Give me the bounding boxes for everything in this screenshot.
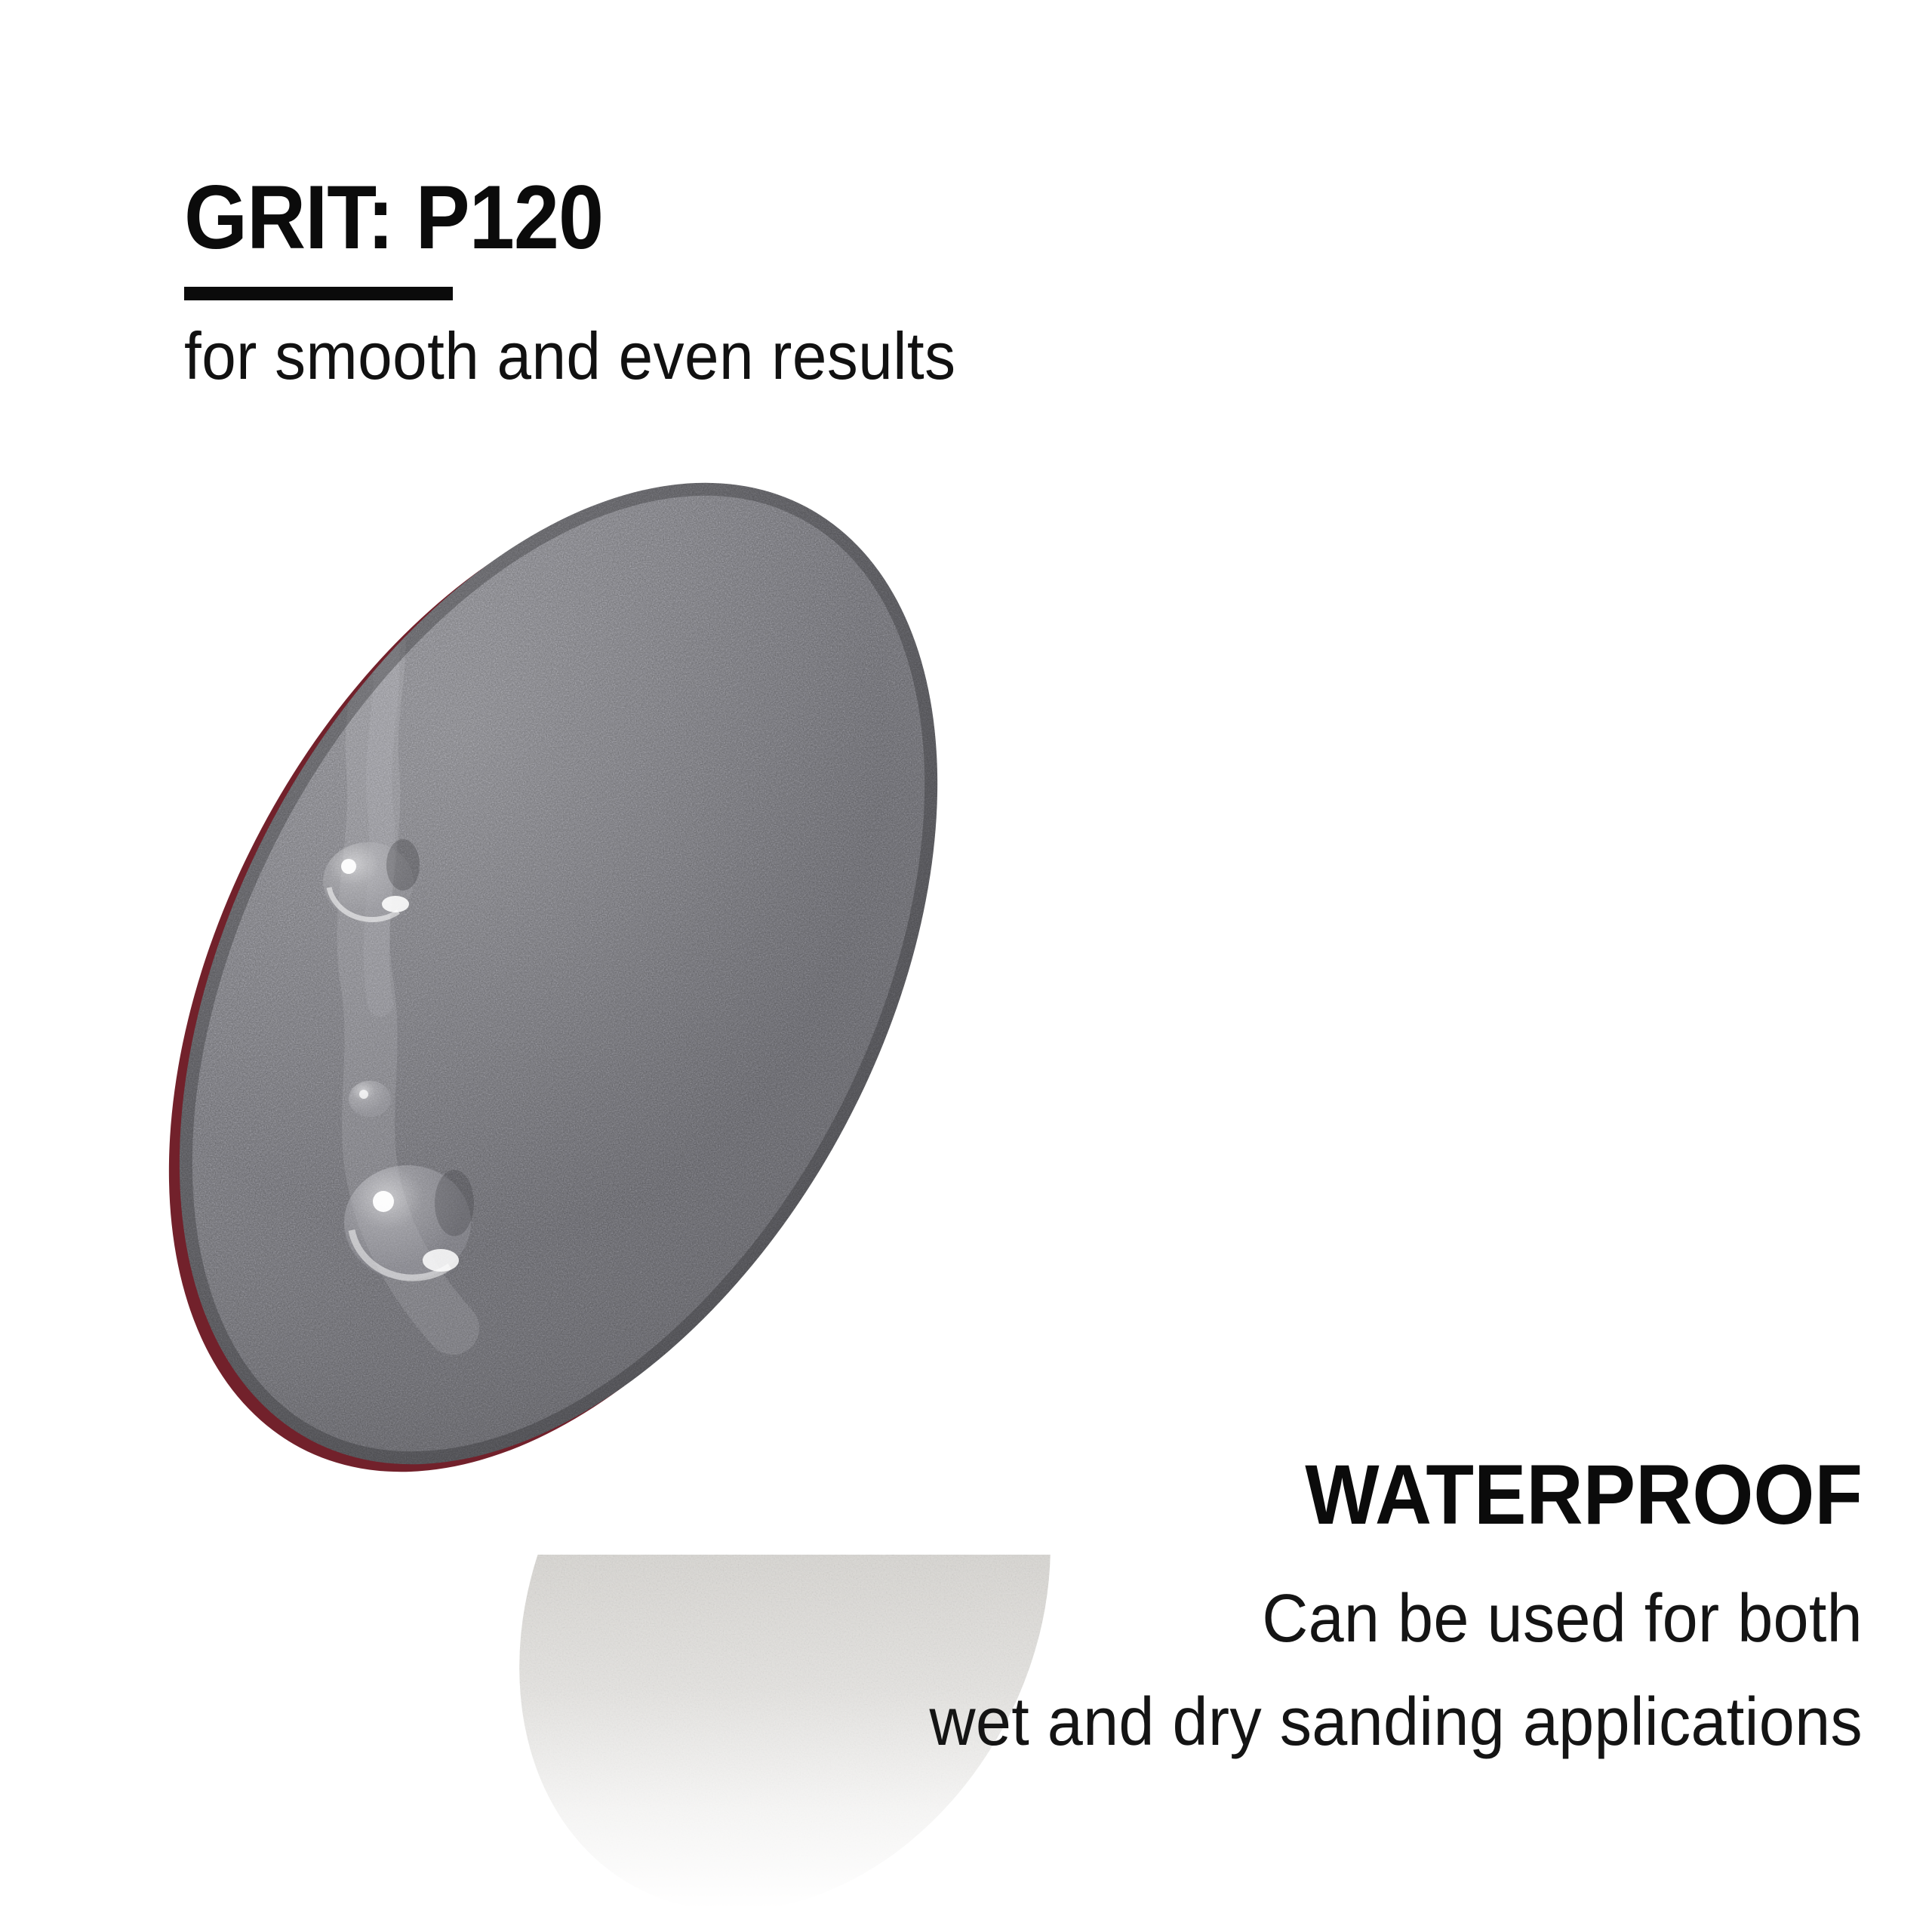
grit-headline: GRIT: P120 [184,172,1203,263]
grit-subtitle: for smooth and even results [184,320,1237,392]
disc-backing-edge [68,377,1049,1570]
water-smear [363,566,453,1328]
disc-abrasive-face [68,377,1049,1570]
claim-line-2: wet and dry sanding applications [869,1671,1863,1774]
headline-underline-rule [184,287,453,300]
sanding-disc-image [68,377,1049,1570]
product-infographic-canvas: GRIT: P120 for smooth and even results [0,0,1932,1932]
water-droplet [323,839,420,921]
claim-block: WATERPROOF Can be used for both wet and … [806,1453,1863,1774]
headline-block: GRIT: P120 for smooth and even results [184,172,1316,392]
water-droplet [344,1165,474,1280]
waterproof-title: WATERPROOF [880,1453,1863,1537]
claim-line-1: Can be used for both [869,1567,1863,1671]
water-droplet [349,1081,391,1117]
